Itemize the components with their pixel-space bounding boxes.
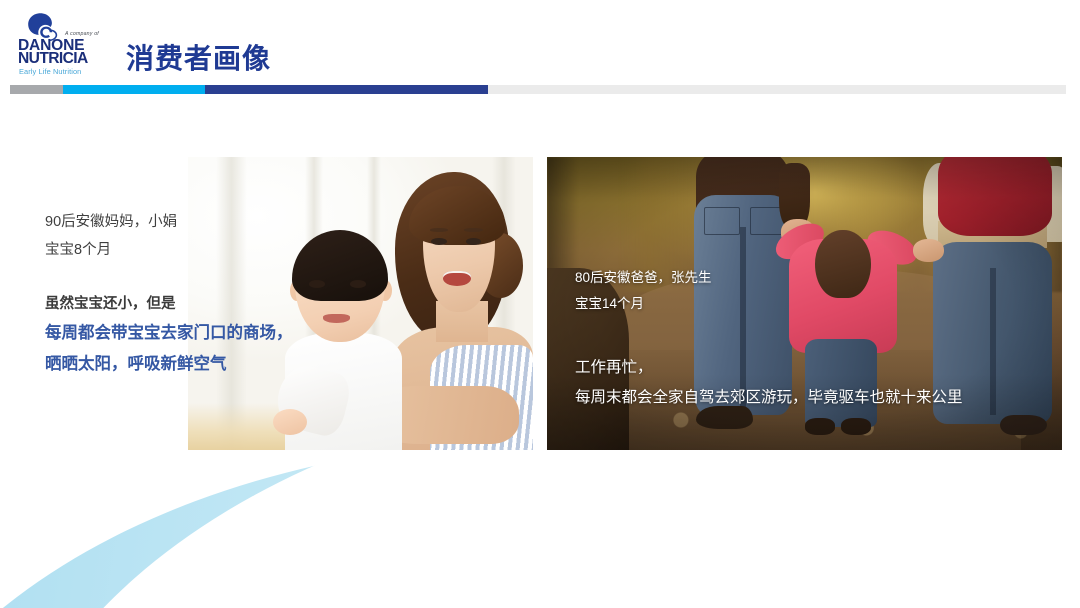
persona-left-intro-line-1: 90后安徽妈妈，小娟 xyxy=(45,208,345,236)
mother-mouth xyxy=(443,271,471,286)
persona-right-spacer xyxy=(575,317,1055,353)
mother-eyebrow-left xyxy=(430,228,449,232)
logo-nutricia-text: NUTRICIA xyxy=(18,51,88,67)
slide-canvas: A company of DANONE NUTRICIA Early Life … xyxy=(0,0,1080,608)
persona-right-highlight-line-1: 每周末都会全家自驾去郊区游玩，毕竟驱车也就十来公里 xyxy=(575,383,1055,413)
persona-left-highlight-line-2: 晒晒太阳，呼吸新鲜空气 xyxy=(45,349,345,380)
persona-left-lead: 虽然宝宝还小，但是 xyxy=(45,290,345,318)
persona-right-intro-line-2: 宝宝14个月 xyxy=(575,291,1055,317)
accent-bar-segment-cyan xyxy=(63,85,205,94)
mother-eyebrow-right xyxy=(464,228,483,232)
logo-tagline-text: Early Life Nutrition xyxy=(19,67,81,76)
mother-eye-left xyxy=(431,238,447,245)
persona-right-intro-line-1: 80后安徽爸爸，张先生 xyxy=(575,265,1055,291)
persona-left-text-block: 90后安徽妈妈，小娟 宝宝8个月 虽然宝宝还小，但是 每周都会带宝宝去家门口的商… xyxy=(45,208,345,380)
accent-bar-segment-light xyxy=(488,85,1066,94)
danone-nutricia-logo: A company of DANONE NUTRICIA Early Life … xyxy=(18,12,110,74)
persona-left-intro-line-2: 宝宝8个月 xyxy=(45,236,345,264)
accent-bar-segment-navy xyxy=(205,85,488,94)
baby-eye-right xyxy=(350,280,366,288)
mother-eye-right xyxy=(466,238,482,245)
accent-bar-segment-gray xyxy=(10,85,63,94)
header-accent-bar xyxy=(0,85,1080,94)
persona-right-text-block: 80后安徽爸爸，张先生 宝宝14个月 工作再忙， 每周末都会全家自驾去郊区游玩，… xyxy=(575,265,1055,413)
persona-left-spacer xyxy=(45,264,345,290)
persona-right-lead: 工作再忙， xyxy=(575,353,1055,383)
page-title: 消费者画像 xyxy=(126,37,271,77)
persona-left-highlight-line-1: 每周都会带宝宝去家门口的商场， xyxy=(45,318,345,349)
slide-header: A company of DANONE NUTRICIA Early Life … xyxy=(0,0,1080,86)
